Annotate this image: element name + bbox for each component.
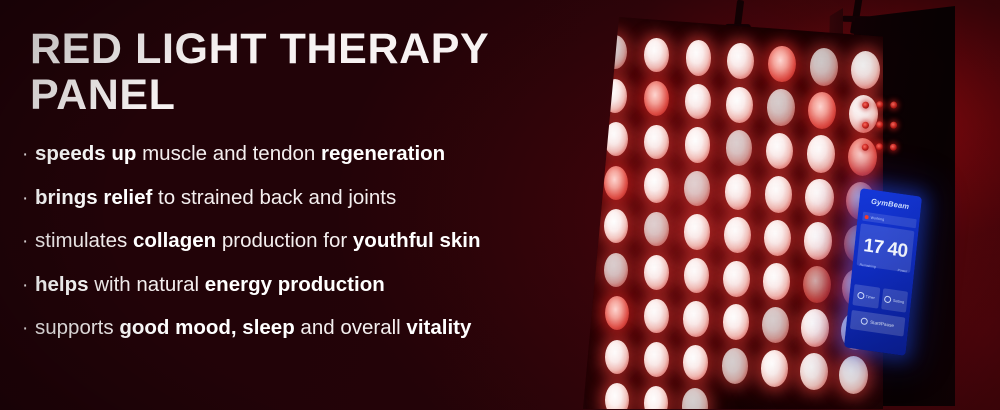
led-light [763, 263, 790, 300]
led-light [644, 386, 669, 409]
bullet-marker-icon: · [22, 143, 35, 167]
led-light [723, 304, 750, 340]
indicator-led-icon [875, 143, 883, 151]
led-light [851, 51, 880, 89]
led-light [725, 174, 752, 210]
title-line-1: RED LIGHT THERAPY [30, 26, 590, 72]
clock-icon [857, 292, 865, 300]
led-light [723, 261, 750, 297]
indicator-led-icon [890, 121, 898, 129]
led-light [686, 40, 712, 75]
brand-logo: GymBeam [859, 195, 921, 213]
led-light [726, 130, 753, 166]
indicator-led-icon [862, 121, 870, 129]
led-light [685, 84, 711, 119]
play-icon [861, 317, 869, 325]
led-light [683, 301, 709, 336]
gear-icon [884, 296, 892, 304]
benefit-item: ·supports good mood, sleep and overall v… [22, 316, 612, 341]
bullet-marker-icon: · [22, 317, 35, 341]
timer-minor: 40 [886, 239, 908, 261]
led-light [800, 353, 828, 390]
start-pause-button[interactable]: Start/Pause [850, 310, 905, 337]
led-light [644, 38, 669, 73]
benefit-text: helps with natural energy production [35, 273, 385, 297]
status-dot-icon [865, 214, 869, 219]
indicator-led-icon [876, 121, 884, 129]
status-label: Working [870, 215, 884, 221]
led-light [764, 220, 791, 257]
copy-block: RED LIGHT THERAPY PANEL ·speeds up muscl… [0, 0, 620, 410]
title-line-2: PANEL [30, 72, 590, 118]
led-light [684, 214, 710, 249]
benefit-text: stimulates collagen production for youth… [35, 229, 480, 253]
indicator-led-icon [862, 101, 870, 109]
promo-banner: RED LIGHT THERAPY PANEL ·speeds up muscl… [0, 0, 1000, 410]
benefit-item: ·speeds up muscle and tendon regeneratio… [22, 142, 612, 167]
led-light [765, 176, 792, 213]
bullet-marker-icon: · [22, 187, 35, 211]
led-light [726, 87, 753, 123]
benefit-text: speeds up muscle and tendon regeneration [35, 142, 445, 166]
led-light [684, 258, 710, 293]
led-light [767, 89, 794, 126]
led-grid [583, 17, 883, 409]
screen-button-row: Timer Setting [852, 284, 908, 313]
led-light [644, 255, 669, 290]
led-light [644, 299, 669, 334]
timer-major: 17 [863, 236, 885, 258]
led-light [727, 43, 754, 79]
led-light [682, 388, 708, 409]
indicator-led-icon [861, 143, 869, 151]
led-light [644, 125, 669, 160]
led-light [803, 266, 831, 303]
benefit-item: ·helps with natural energy production [22, 273, 612, 298]
bullet-marker-icon: · [22, 274, 35, 298]
start-pause-label: Start/Pause [870, 320, 894, 328]
page-title: RED LIGHT THERAPY PANEL [30, 26, 590, 118]
led-light [644, 212, 669, 247]
benefit-list: ·speeds up muscle and tendon regeneratio… [22, 142, 612, 360]
indicator-led-icon [890, 143, 898, 151]
led-light [808, 92, 836, 129]
led-light [724, 217, 751, 253]
led-light [644, 342, 669, 377]
bullet-marker-icon: · [22, 230, 35, 254]
led-light [761, 350, 788, 387]
led-light [722, 348, 749, 384]
indicator-led-icon [890, 101, 898, 109]
timer-button-label: Timer [866, 294, 875, 299]
indicator-led-cluster [853, 97, 920, 175]
benefit-text: brings relief to strained back and joint… [35, 186, 396, 210]
device-image: GymBeam Working 17 40 Remaining Power Ti… [575, 0, 1000, 410]
led-light [804, 222, 832, 259]
benefit-item: ·brings relief to strained back and join… [22, 186, 612, 211]
led-light [768, 46, 795, 83]
led-light [805, 179, 833, 216]
benefit-text: supports good mood, sleep and overall vi… [35, 316, 471, 340]
led-light [685, 127, 711, 162]
led-light [684, 171, 710, 206]
timer-button[interactable]: Timer [852, 284, 879, 309]
led-light [683, 345, 709, 380]
led-light [810, 48, 838, 85]
led-light [644, 81, 669, 116]
led-light [644, 168, 669, 203]
led-light [801, 309, 829, 346]
led-light [839, 356, 868, 394]
led-panel-face [583, 17, 883, 409]
benefit-item: ·stimulates collagen production for yout… [22, 229, 612, 254]
indicator-led-icon [876, 101, 884, 109]
led-light [807, 135, 835, 172]
setting-button-label: Setting [893, 298, 905, 304]
led-light [762, 307, 789, 344]
sublabel-right: Power [897, 268, 907, 273]
setting-button[interactable]: Setting [881, 288, 908, 313]
led-light [766, 133, 793, 170]
